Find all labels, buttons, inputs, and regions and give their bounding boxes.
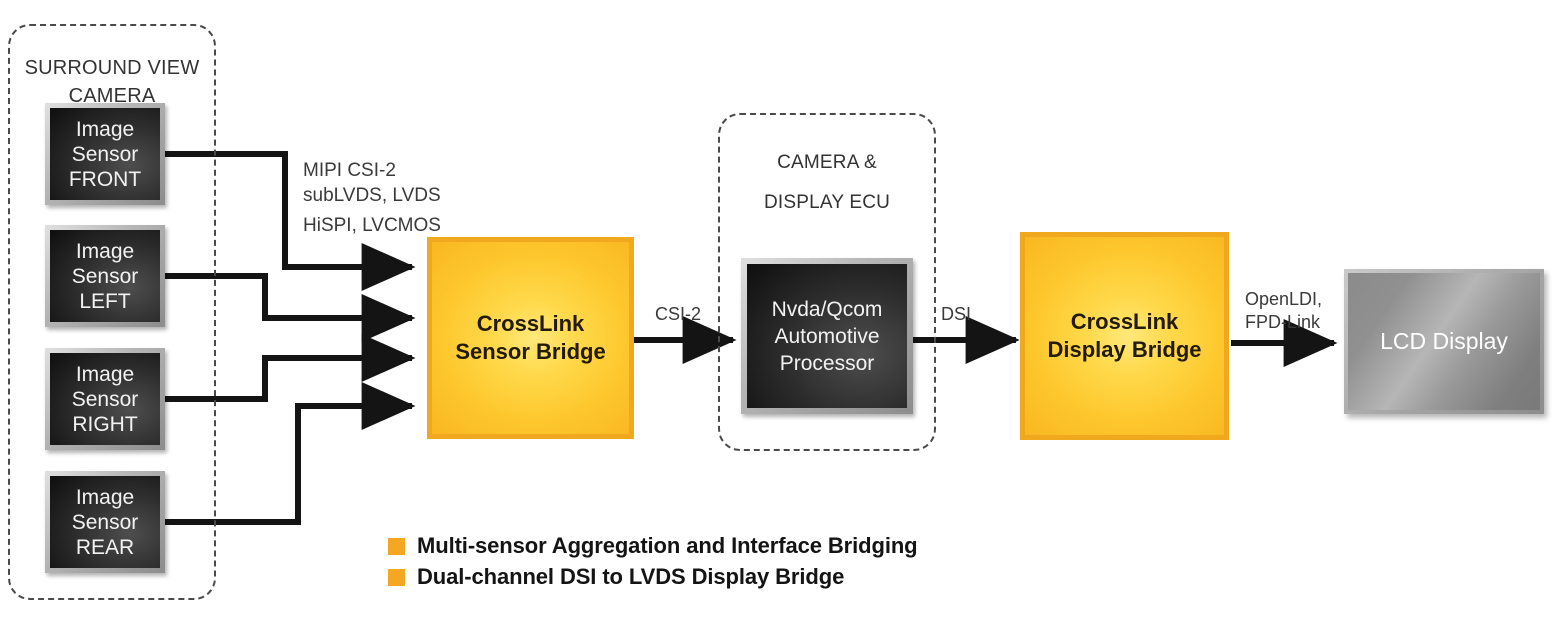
legend-item-dual-channel: Dual-channel DSI to LVDS Display Bridge (388, 564, 918, 590)
diagram-canvas: SURROUND VIEW CAMERA Image Sensor FRONT … (0, 0, 1558, 637)
crosslink-display-bridge-block: CrossLink Display Bridge (1020, 232, 1229, 440)
sensor-bridge-line2: Sensor Bridge (455, 338, 605, 366)
image-sensor-left: Image Sensor LEFT (45, 225, 165, 327)
legend-swatch-icon (388, 538, 405, 555)
sensor-front-line2: Sensor (72, 142, 139, 167)
sensor-rear-line2: Sensor (72, 510, 139, 535)
image-sensor-right: Image Sensor RIGHT (45, 348, 165, 450)
legend-item-multi-sensor: Multi-sensor Aggregation and Interface B… (388, 533, 918, 559)
sensor-bridge-line1: CrossLink (477, 310, 585, 338)
display-bridge-line1: CrossLink (1071, 308, 1179, 336)
display-bridge-line2: Display Bridge (1047, 336, 1201, 364)
display-interface-label: OpenLDI, FPD-Link (1245, 288, 1322, 334)
processor-line2: Automotive (774, 323, 879, 350)
processor-line1: Nvda/Qcom (772, 296, 883, 323)
legend-label-dual-channel: Dual-channel DSI to LVDS Display Bridge (417, 564, 844, 590)
sensor-right-line3: RIGHT (72, 412, 137, 437)
crosslink-sensor-bridge-block: CrossLink Sensor Bridge (427, 237, 634, 439)
csi2-link-label: CSI-2 (655, 303, 701, 326)
sensor-rear-line3: REAR (76, 535, 134, 560)
sensor-rear-line1: Image (76, 485, 134, 510)
legend-label-multi-sensor: Multi-sensor Aggregation and Interface B… (417, 533, 918, 559)
sensor-left-line2: Sensor (72, 264, 139, 289)
legend-swatch-icon (388, 569, 405, 586)
sensor-left-line3: LEFT (79, 289, 130, 314)
legend: Multi-sensor Aggregation and Interface B… (388, 533, 918, 595)
lcd-display-label: LCD Display (1380, 328, 1508, 355)
image-sensor-rear: Image Sensor REAR (45, 471, 165, 573)
processor-line3: Processor (780, 350, 875, 377)
sensor-right-line2: Sensor (72, 387, 139, 412)
sensor-front-line1: Image (76, 117, 134, 142)
lcd-display-block: LCD Display (1344, 269, 1544, 414)
camera-display-ecu-title: CAMERA & DISPLAY ECU (720, 143, 934, 223)
image-sensor-front: Image Sensor FRONT (45, 103, 165, 205)
sensor-left-line1: Image (76, 239, 134, 264)
automotive-processor-block: Nvda/Qcom Automotive Processor (741, 258, 913, 414)
sensor-right-line1: Image (76, 362, 134, 387)
sensor-front-line3: FRONT (69, 167, 141, 192)
sensor-interface-label-primary: MIPI CSI-2 subLVDS, LVDS (303, 158, 441, 208)
surround-view-camera-title: SURROUND VIEW CAMERA (10, 54, 214, 110)
dsi-link-label: DSI (941, 303, 971, 326)
sensor-interface-label-secondary: HiSPI, LVCMOS (303, 213, 441, 238)
